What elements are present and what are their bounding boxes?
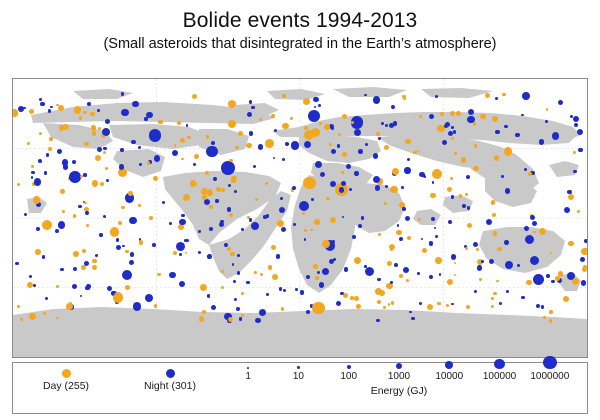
bolide-point-night — [241, 228, 244, 231]
bolide-point-day — [314, 219, 320, 225]
bolide-point-day — [497, 247, 501, 251]
bolide-point-night — [431, 217, 435, 221]
bolide-point-night — [417, 272, 420, 275]
bolide-point-night — [329, 259, 334, 264]
bolide-point-night — [224, 243, 228, 247]
bolide-point-day — [33, 196, 41, 204]
bolide-point-night — [403, 267, 409, 273]
bolide-point-night — [139, 163, 142, 166]
energy-legend-tick-label: 100000 — [483, 371, 516, 382]
energy-legend-dot — [347, 365, 351, 369]
bolide-point-day — [384, 145, 389, 150]
legend-label-night: Night (301) — [131, 380, 209, 392]
bolide-point-night — [448, 220, 452, 224]
bolide-point-night — [474, 290, 478, 294]
bolide-point-night — [72, 284, 77, 289]
bolide-point-night — [322, 268, 329, 275]
bolide-point-day — [427, 304, 433, 310]
bolide-point-day — [86, 224, 90, 228]
bolide-point-day — [451, 137, 455, 141]
bolide-point-day — [254, 271, 257, 274]
bolide-point-night — [506, 290, 509, 293]
bolide-point-day — [230, 252, 235, 257]
bolide-point-day — [260, 273, 264, 277]
bolide-point-night — [319, 282, 325, 288]
bolide-point-night — [467, 206, 471, 210]
bolide-point-night — [279, 287, 283, 291]
bolide-point-day — [391, 301, 395, 305]
bolide-point-night — [421, 238, 424, 241]
bolide-point-day — [447, 187, 452, 192]
bolide-point-day — [319, 122, 322, 125]
bolide-point-day — [572, 278, 579, 285]
bolide-point-night — [389, 123, 394, 128]
bolide-point-night — [419, 302, 422, 305]
bolide-point-night — [24, 213, 28, 217]
bolide-point-day — [69, 302, 72, 305]
bolide-point-day — [83, 111, 86, 114]
bolide-point-night — [95, 254, 98, 257]
bolide-point-night — [186, 124, 189, 127]
bolide-point-night — [45, 297, 48, 300]
bolide-point-night — [181, 214, 185, 218]
bolide-point-night — [120, 148, 124, 152]
bolide-point-night — [581, 280, 587, 286]
bolide-point-night — [352, 235, 356, 239]
bolide-point-day — [417, 150, 420, 153]
bolide-point-day — [405, 139, 411, 145]
bolide-point-day — [121, 206, 125, 210]
bolide-point-day — [92, 180, 99, 187]
bolide-point-night — [132, 101, 139, 108]
bolide-point-day — [98, 127, 101, 130]
bolide-point-night — [552, 132, 560, 140]
bolide-point-night — [97, 147, 102, 152]
bolide-point-day — [543, 316, 546, 319]
bolide-point-night — [578, 148, 583, 153]
bolide-point-night — [116, 245, 121, 250]
energy-legend-dot — [247, 367, 249, 369]
bolide-point-day — [476, 248, 479, 251]
day-night-legend: Day (255) Night (301) — [27, 367, 209, 392]
bolide-point-night — [46, 153, 50, 157]
bolide-point-night — [122, 270, 132, 280]
bolide-point-day — [454, 262, 457, 265]
night-dot-swatch-icon — [166, 369, 175, 378]
bolide-point-night — [354, 171, 359, 176]
bolide-point-day — [466, 305, 470, 309]
bolide-point-day — [290, 117, 294, 121]
bolide-point-night — [273, 157, 276, 160]
bolide-point-day — [139, 240, 144, 245]
bolide-point-night — [154, 155, 161, 162]
bolide-point-night — [78, 205, 82, 209]
bolide-point-day — [315, 276, 319, 280]
bolide-point-night — [365, 267, 374, 276]
bolide-point-day — [304, 229, 307, 232]
bolide-point-night — [146, 112, 153, 119]
bolide-point-night — [282, 158, 285, 161]
bolide-point-night — [62, 159, 69, 166]
bolide-point-night — [103, 215, 106, 218]
bolide-point-night — [524, 168, 527, 171]
bolide-point-day — [92, 131, 97, 136]
bolide-point-night — [106, 179, 109, 182]
bolide-point-night — [33, 284, 36, 287]
bolide-point-day — [465, 247, 468, 250]
bolide-point-day — [73, 251, 79, 257]
bolide-point-day — [563, 296, 569, 302]
bolide-point-day — [329, 143, 332, 146]
bolide-point-day — [450, 177, 454, 181]
bolide-point-day — [387, 261, 392, 266]
bolide-point-night — [525, 235, 534, 244]
bolide-point-night — [42, 255, 46, 259]
bolide-point-night — [237, 271, 240, 274]
bolide-point-day — [581, 248, 588, 255]
bolide-point-day — [539, 228, 546, 235]
bolide-point-night — [466, 175, 470, 179]
bolide-point-night — [577, 129, 583, 135]
bolide-point-day — [92, 265, 97, 270]
bolide-point-night — [320, 172, 325, 177]
energy-legend-tick-label: 10 — [293, 371, 304, 382]
bolide-point-day — [84, 202, 87, 205]
bolide-point-day — [330, 217, 336, 223]
bolide-point-day — [454, 274, 457, 277]
bolide-point-day — [238, 131, 243, 136]
bolide-point-night — [121, 109, 128, 116]
bolide-point-day — [406, 279, 409, 282]
bolide-point-day — [304, 130, 314, 140]
bolide-point-night — [34, 178, 42, 186]
bolide-point-night — [207, 254, 211, 258]
bolide-point-day — [303, 98, 310, 105]
bolide-point-night — [60, 268, 63, 271]
bolide-point-night — [295, 288, 298, 291]
bolide-point-day — [282, 123, 289, 130]
bolide-point-day — [454, 152, 457, 155]
bolide-point-night — [477, 265, 483, 271]
bolide-point-day — [200, 284, 207, 291]
bolide-point-day — [29, 313, 36, 320]
bolide-point-day — [20, 318, 23, 321]
bolide-point-day — [272, 274, 278, 280]
bolide-point-night — [247, 112, 252, 117]
bolide-point-night — [419, 172, 425, 178]
bolide-point-night — [249, 100, 253, 104]
bolide-point-night — [86, 284, 91, 289]
bolide-point-day — [473, 166, 479, 172]
bolide-point-day — [241, 292, 244, 295]
bolide-point-day — [303, 177, 315, 189]
bolide-point-day — [271, 245, 276, 250]
bolide-point-night — [29, 275, 32, 278]
bolide-point-night — [99, 233, 102, 236]
bolide-point-night — [83, 173, 87, 177]
bolide-point-night — [280, 197, 283, 200]
bolide-point-night — [444, 124, 448, 128]
bolide-point-night — [129, 217, 137, 225]
bolide-point-night — [285, 142, 289, 146]
bolide-point-day — [265, 139, 274, 148]
bolide-point-day — [60, 189, 65, 194]
bolide-point-night — [522, 92, 530, 100]
bolide-point-day — [206, 135, 210, 139]
bolide-point-night — [58, 221, 65, 228]
bolide-point-night — [253, 165, 257, 169]
bolide-point-day — [241, 314, 244, 317]
bolide-point-day — [413, 151, 417, 155]
bolide-point-night — [532, 221, 537, 226]
bolide-point-night — [103, 147, 107, 151]
bolide-point-night — [300, 290, 305, 295]
bolide-point-day — [157, 273, 161, 277]
bolide-point-day — [181, 158, 184, 161]
bolide-point-night — [373, 96, 380, 103]
bolide-point-night — [564, 207, 570, 213]
bolide-point-night — [279, 207, 286, 214]
bolide-point-day — [418, 218, 421, 221]
bolide-point-night — [401, 186, 404, 189]
bolide-point-night — [105, 119, 110, 124]
bolide-point-day — [147, 161, 151, 165]
bolide-point-day — [92, 259, 96, 263]
bolide-point-night — [339, 187, 345, 193]
bolide-point-night — [495, 97, 498, 100]
bolide-point-night — [179, 281, 186, 288]
bolide-point-day — [281, 307, 285, 311]
energy-size-legend: 1101001000100001000001000000 Energy (GJ) — [223, 365, 575, 397]
bolide-point-night — [545, 120, 548, 123]
bolide-point-day — [221, 270, 224, 273]
bolide-point-day — [228, 100, 236, 108]
energy-legend-dot — [445, 361, 453, 369]
bolide-point-day — [491, 305, 494, 308]
bolide-point-night — [266, 293, 269, 296]
bolide-point-day — [342, 152, 348, 158]
bolide-point-day — [95, 155, 101, 161]
bolide-point-day — [229, 159, 233, 163]
map-panel — [12, 78, 588, 358]
bolide-point-night — [131, 140, 135, 144]
bolide-point-night — [346, 164, 351, 169]
legend-item-day: Day (255) — [27, 367, 105, 392]
bolide-point-day — [39, 132, 42, 135]
energy-legend-dot — [396, 363, 402, 369]
bolide-point-night — [330, 181, 336, 187]
bolide-point-night — [521, 296, 525, 300]
day-dot-swatch-icon — [62, 369, 71, 378]
bolide-point-night — [429, 275, 433, 279]
bolide-point-night — [138, 146, 141, 149]
energy-size-row: 1101001000100001000001000000 — [223, 365, 575, 382]
bolide-point-night — [198, 230, 201, 233]
bolide-point-day — [450, 111, 455, 116]
bolide-point-day — [100, 182, 104, 186]
energy-legend-tick: 100 — [324, 365, 374, 382]
bolide-point-night — [336, 301, 341, 306]
bolide-point-night — [48, 109, 51, 112]
bolide-point-day — [323, 244, 326, 247]
bolide-point-day — [180, 138, 185, 143]
bolide-point-night — [215, 199, 219, 203]
bolide-point-day — [407, 236, 411, 240]
bolide-point-night — [489, 259, 494, 264]
bolide-point-night — [451, 126, 454, 129]
bolide-point-day — [187, 136, 190, 139]
bolide-point-night — [251, 222, 259, 230]
bolide-point-night — [354, 129, 362, 137]
bolide-point-night — [266, 214, 270, 218]
bolide-point-day — [467, 223, 472, 228]
bolide-point-day — [128, 191, 133, 196]
bolide-point-night — [311, 198, 314, 201]
bolide-point-day — [392, 168, 399, 175]
bolide-point-day — [43, 312, 46, 315]
bolide-point-night — [573, 170, 576, 173]
bolide-point-night — [429, 241, 434, 246]
energy-legend-tick: 100000 — [474, 359, 524, 382]
bolide-point-day — [271, 114, 275, 118]
bolide-point-day — [437, 302, 440, 305]
bolide-point-day — [102, 135, 105, 138]
bolide-point-night — [184, 239, 187, 242]
bolide-point-night — [152, 243, 156, 247]
bolide-point-night — [145, 294, 153, 302]
bolide-point-day — [91, 125, 97, 131]
bolide-point-day — [27, 142, 30, 145]
bolide-point-day — [526, 280, 531, 285]
bolide-point-night — [399, 237, 404, 242]
bolide-point-day — [496, 280, 499, 283]
bolide-point-day — [302, 212, 305, 215]
bolide-point-day — [73, 214, 77, 218]
bolide-point-night — [317, 271, 320, 274]
bolide-point-day — [356, 304, 361, 309]
bolide-point-day — [82, 249, 86, 253]
energy-legend-tick-label: 10000 — [435, 371, 463, 382]
bolide-point-night — [133, 302, 141, 310]
bolide-point-night — [207, 294, 210, 297]
bolide-point-night — [259, 309, 266, 316]
bolide-point-day — [491, 200, 495, 204]
bolide-point-day — [378, 233, 382, 237]
bolide-point-day — [379, 290, 385, 296]
bolide-point-night — [304, 141, 311, 148]
bolide-point-night — [206, 146, 218, 158]
bolide-point-night — [306, 275, 310, 279]
bolide-point-night — [517, 264, 520, 267]
bolide-point-day — [465, 193, 468, 196]
bolide-point-day — [354, 257, 361, 264]
bolide-point-day — [153, 176, 158, 181]
bolide-point-night — [116, 238, 120, 242]
bolide-point-night — [213, 177, 217, 181]
bolide-point-night — [533, 274, 544, 285]
bolide-point-night — [546, 274, 550, 278]
bolide-point-night — [499, 302, 502, 305]
bolide-point-night — [249, 131, 254, 136]
bolide-point-day — [338, 133, 341, 136]
bolide-point-night — [393, 121, 397, 125]
bolide-point-night — [274, 129, 277, 132]
bolide-point-night — [315, 161, 322, 168]
bolide-map-figure: Bolide events 1994-2013 (Small asteroids… — [0, 0, 600, 420]
bolide-point-day — [17, 305, 21, 309]
bolide-point-night — [331, 127, 334, 130]
bolide-point-night — [176, 242, 185, 251]
bolide-point-night — [44, 171, 48, 175]
bolide-point-night — [584, 239, 588, 243]
bolide-point-day — [473, 122, 477, 126]
bolide-point-day — [42, 220, 52, 230]
bolide-point-night — [365, 143, 368, 146]
bolide-point-night — [39, 98, 42, 101]
bolide-point-night — [432, 181, 435, 184]
energy-axis-label: Energy (GJ) — [223, 385, 575, 397]
bolide-point-night — [377, 278, 381, 282]
bolide-point-night — [313, 97, 319, 103]
bolide-point-night — [73, 267, 78, 272]
bolide-point-day — [461, 157, 467, 163]
energy-legend-dot — [543, 356, 556, 369]
bolide-point-day — [446, 304, 449, 307]
bolide-point-day — [502, 93, 506, 97]
bolide-point-day — [221, 188, 225, 192]
bolide-points-layer — [13, 79, 587, 357]
bolide-point-day — [79, 116, 83, 120]
bolide-point-night — [390, 281, 393, 284]
bolide-point-night — [481, 260, 484, 263]
bolide-point-day — [201, 188, 208, 195]
bolide-point-night — [50, 106, 53, 109]
bolide-point-day — [63, 124, 69, 130]
bolide-point-night — [308, 110, 320, 122]
bolide-point-day — [573, 151, 576, 154]
bolide-point-day — [149, 216, 153, 220]
bolide-point-day — [440, 112, 444, 116]
bolide-point-night — [87, 102, 91, 106]
bolide-point-day — [185, 252, 188, 255]
bolide-point-night — [318, 104, 321, 107]
bolide-point-day — [125, 285, 130, 290]
bolide-point-day — [555, 276, 560, 281]
bolide-point-day — [105, 167, 108, 170]
bolide-point-night — [281, 227, 286, 232]
bolide-point-day — [399, 274, 403, 278]
bolide-point-night — [468, 109, 474, 115]
bolide-point-night — [385, 185, 389, 189]
bolide-point-night — [80, 295, 83, 298]
bolide-point-night — [15, 262, 18, 265]
bolide-point-night — [504, 240, 509, 245]
bolide-point-night — [501, 175, 504, 178]
bolide-point-day — [199, 316, 205, 322]
bolide-point-day — [324, 124, 330, 130]
bolide-point-night — [304, 238, 307, 241]
bolide-point-night — [341, 181, 346, 186]
bolide-point-day — [313, 264, 317, 268]
bolide-point-night — [524, 226, 529, 231]
bolide-point-night — [36, 227, 40, 231]
bolide-point-day — [29, 109, 34, 114]
bolide-point-day — [354, 296, 359, 301]
bolide-point-night — [97, 109, 100, 112]
bolide-point-night — [434, 227, 437, 230]
bolide-point-night — [72, 160, 76, 164]
bolide-point-night — [435, 95, 438, 98]
